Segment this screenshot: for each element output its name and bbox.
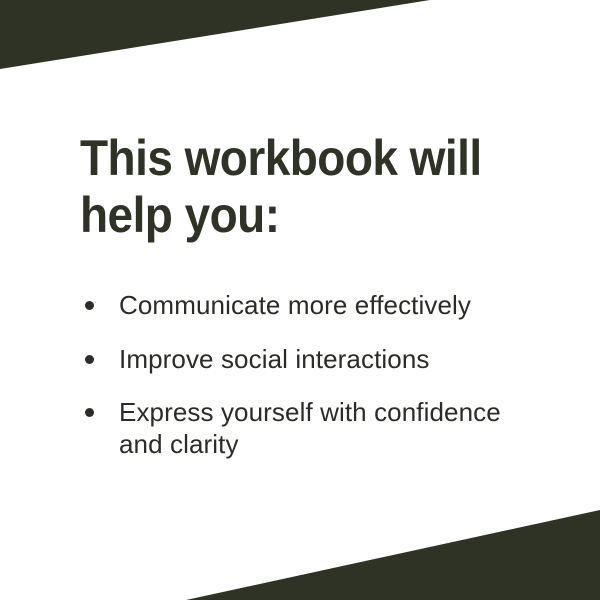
list-item: Improve social interactions (83, 344, 543, 376)
list-item: Communicate more effectively (83, 290, 543, 322)
list-item: Express yourself with confidence and cla… (83, 397, 543, 460)
list-item-label: Express yourself with confidence and cla… (119, 397, 543, 460)
top-diagonal-band (0, 0, 600, 80)
page-title: This workbook will help you: (80, 130, 512, 243)
poster-canvas: This workbook will help you: Communicate… (0, 0, 600, 600)
content-block: This workbook will help you: Communicate… (80, 130, 550, 243)
list-item-label: Improve social interactions (119, 344, 543, 376)
bottom-diagonal-band (0, 510, 600, 600)
bullet-dot-icon (85, 355, 94, 364)
bullet-dot-icon (85, 408, 94, 417)
bullet-dot-icon (85, 301, 94, 310)
list-item-label: Communicate more effectively (119, 290, 543, 322)
benefits-list: Communicate more effectively Improve soc… (83, 290, 543, 461)
